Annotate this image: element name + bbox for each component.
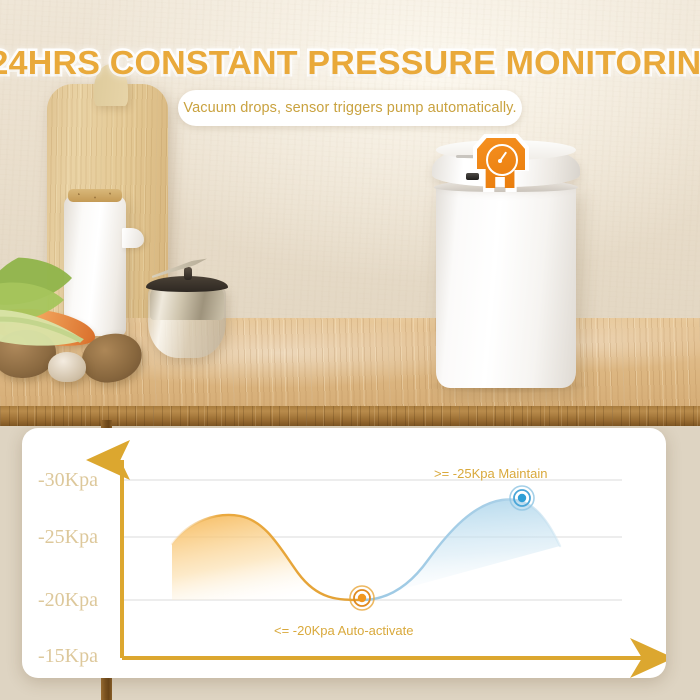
y-tick-label: -30Kpa bbox=[38, 469, 98, 492]
pitcher-cork-lid bbox=[68, 189, 122, 202]
subtitle-text: Vacuum drops, sensor triggers pump autom… bbox=[183, 100, 516, 116]
maintain-annotation: >= -25Kpa Maintain bbox=[434, 466, 547, 481]
sugar-jar-knob bbox=[184, 267, 192, 280]
subtitle-pill: Vacuum drops, sensor triggers pump autom… bbox=[178, 90, 522, 126]
vacuum-canister-body bbox=[436, 185, 576, 388]
orange-area-fill bbox=[172, 515, 362, 600]
y-tick-label: -15Kpa bbox=[38, 645, 98, 668]
auto-activate-marker bbox=[350, 586, 374, 610]
pitcher-spout bbox=[122, 228, 144, 248]
y-tick-label: -25Kpa bbox=[38, 526, 98, 549]
page-title: 24HRS CONSTANT PRESSURE MONITORING bbox=[0, 44, 700, 82]
auto-activate-annotation: <= -20Kpa Auto-activate bbox=[274, 623, 413, 638]
promo-infographic: 24HRS CONSTANT PRESSURE MONITORING Vacuu… bbox=[0, 0, 700, 700]
y-tick-label: -20Kpa bbox=[38, 589, 98, 612]
pressure-chart bbox=[22, 428, 666, 678]
blue-area-fill bbox=[362, 499, 560, 600]
maintain-marker bbox=[510, 486, 534, 510]
pressure-chart-card: -30Kpa -25Kpa -20Kpa -15Kpa <= -20Kpa Au… bbox=[22, 428, 666, 678]
smart-sensor-head-gauge-icon bbox=[473, 134, 529, 192]
gauge-icon bbox=[486, 144, 518, 176]
